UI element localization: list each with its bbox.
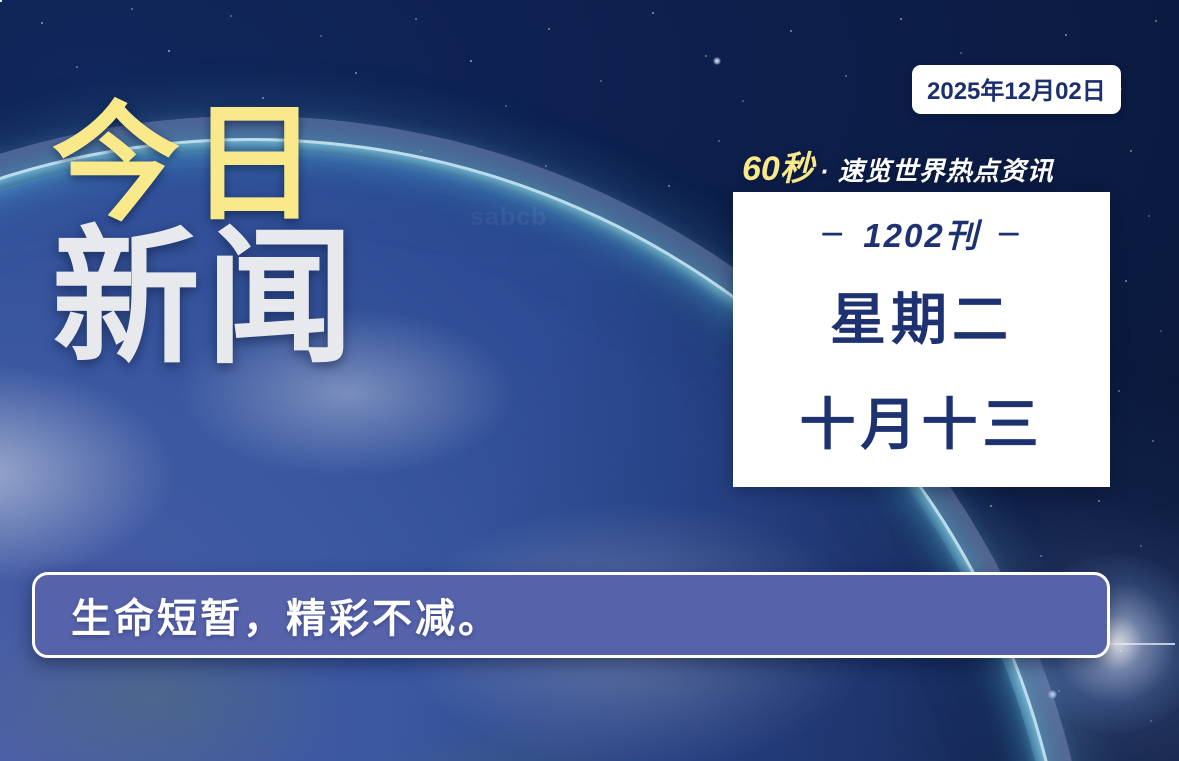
bright-star-icon xyxy=(713,57,721,65)
issue-dash-left: － xyxy=(819,215,847,252)
issue-dash-right: － xyxy=(996,215,1024,252)
issue-number: 1202刊 xyxy=(863,209,979,257)
title-line-today: 今日 xyxy=(52,96,360,234)
weekday-label: 星期二 xyxy=(830,275,1013,356)
tagline-seconds: 60秒 xyxy=(742,141,814,190)
date-badge: 2025年12月02日 xyxy=(912,65,1121,114)
tagline: 60秒 · 速览世界热点资讯 xyxy=(742,141,1054,190)
slogan-banner: 生命短暂，精彩不减。 xyxy=(32,572,1110,658)
poster-canvas: sabcb 今日 新闻 2025年12月02日 60秒 · 速览世界热点资讯 －… xyxy=(0,0,1179,761)
poster-title: 今日 新闻 xyxy=(52,96,360,375)
calendar-card: － 1202刊 － 星期二 十月十三 xyxy=(733,192,1110,487)
title-line-news: 新闻 xyxy=(52,224,360,375)
watermark: sabcb xyxy=(470,203,547,232)
issue-number-row: － 1202刊 － xyxy=(819,209,1023,257)
tagline-description: · 速览世界热点资讯 xyxy=(820,151,1054,188)
slogan-text: 生命短暂，精彩不减。 xyxy=(71,586,501,644)
lunar-date-label: 十月十三 xyxy=(800,380,1044,461)
